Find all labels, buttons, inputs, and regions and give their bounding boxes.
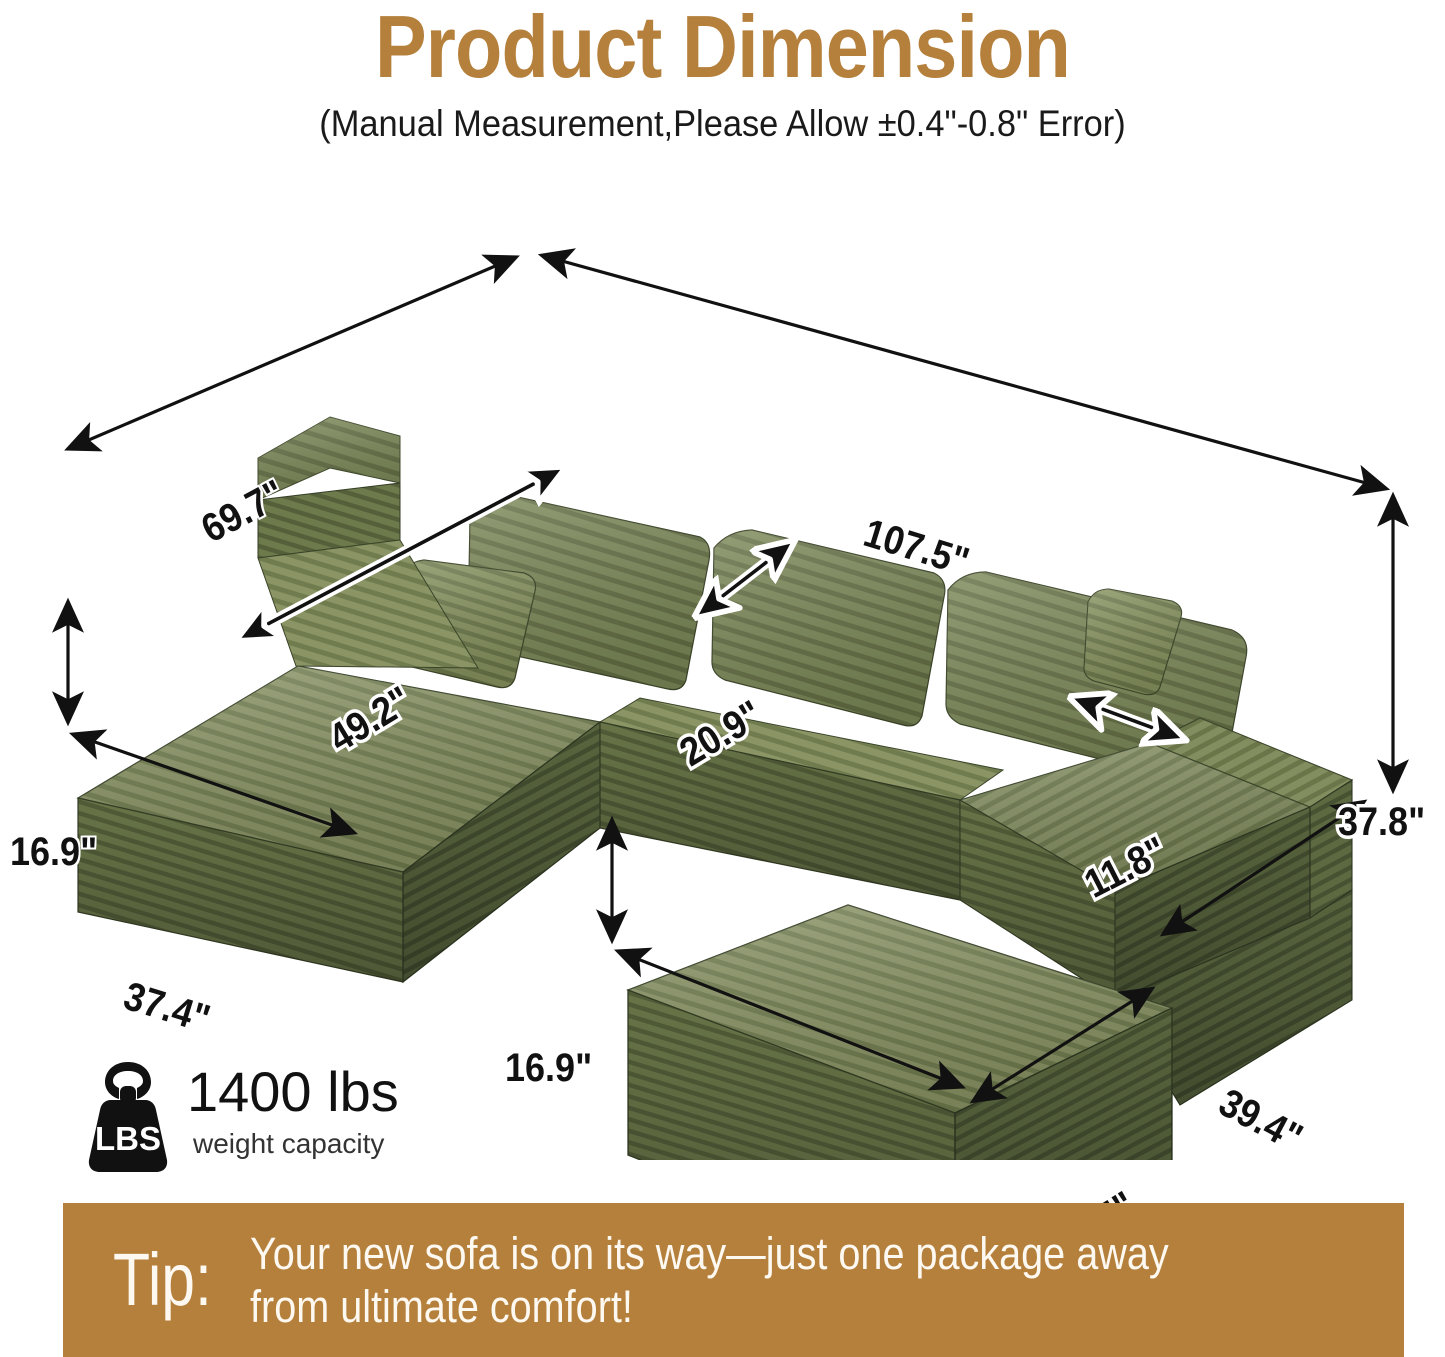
sofa-diagram-svg [0, 200, 1445, 1160]
tip-label: Tip: [113, 1243, 212, 1317]
product-dimension-infographic: Product Dimension (Manual Measurement,Pl… [0, 0, 1445, 1357]
page-title: Product Dimension [87, 0, 1359, 98]
tip-text: Your new sofa is on its way—just one pac… [250, 1227, 1169, 1333]
dimension-label-ottoman-height: 16.9" [505, 1046, 592, 1091]
measurement-disclaimer: (Manual Measurement,Please Allow ±0.4"-0… [51, 103, 1395, 145]
sofa-illustration: 69.7" 107.5" 49.2" 20.9" 16.9" 37.8" 11.… [0, 200, 1445, 1160]
weight-lbs-icon: LBS [85, 1058, 171, 1176]
center-seat-module [600, 698, 1003, 900]
tip-banner: Tip: Your new sofa is on its way—just on… [63, 1203, 1404, 1357]
weight-capacity-caption: weight capacity [193, 1128, 399, 1160]
weight-capacity-value: 1400 lbs [187, 1064, 399, 1120]
tip-text-line-1: Your new sofa is on its way—just one pac… [250, 1227, 1169, 1280]
weight-icon-text: LBS [95, 1120, 161, 1157]
dimension-label-height-overall: 37.8" [1338, 800, 1425, 845]
tip-text-line-2: from ultimate comfort! [250, 1280, 1169, 1333]
dimension-label-height-left: 16.9" [10, 830, 97, 875]
weight-capacity-badge: LBS 1400 lbs weight capacity [85, 1058, 399, 1176]
